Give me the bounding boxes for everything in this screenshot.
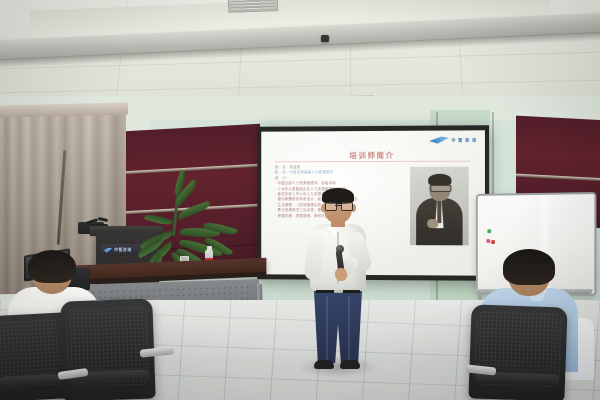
bottle-cap [207,246,212,251]
glasses-icon [325,202,351,209]
pink-magnet-icon[interactable] [486,239,490,243]
trouser-crease [348,296,350,360]
company-logo-icon [429,137,449,144]
air-vent [228,0,279,13]
wall-seam [492,112,494,204]
presenter-trousers [314,291,362,363]
glasses-icon [430,185,451,192]
company-logo-icon [103,247,112,252]
presenter-shoe [314,360,334,369]
slide-title: 培训师简介 [261,149,485,161]
slide-logo: 中 智 咨 询 [429,136,477,143]
attendee-left-hair [28,250,76,283]
presenter [300,190,376,376]
red-magnet-icon[interactable] [491,240,495,244]
company-logo-text: 中 智 咨 询 [451,137,477,143]
presenter-shoe [340,360,360,369]
office-chair[interactable] [468,304,567,400]
slide-divider [275,161,471,163]
attendee-right-hair [503,249,555,285]
lectern-plate-text: 中智咨询 [114,247,131,253]
ceiling-sensor-icon [321,35,329,42]
trainer-portrait-photo [410,167,469,246]
conference-room-photo: 中 智 咨 询 培训师简介 姓 名：李金贤 职 务：中智咨询高级人力资源顾问 简… [0,0,600,400]
green-magnet-icon[interactable] [487,229,491,233]
trouser-crease [326,296,328,360]
